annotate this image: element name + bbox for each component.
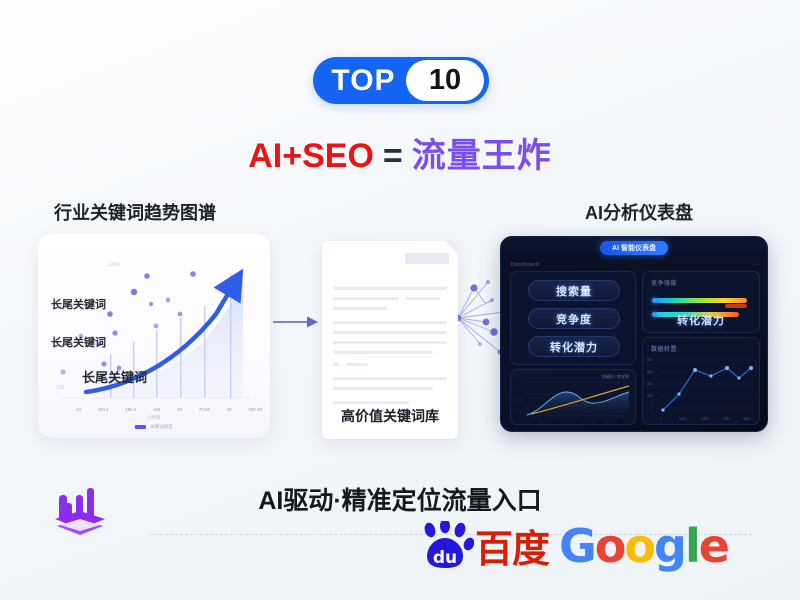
legend-swatch-icon bbox=[135, 425, 146, 429]
slide-canvas: TOP 10 AI+SEO=流量王炸 行业关键词趋势图谱 AI分析仪表盘 bbox=[0, 0, 800, 600]
metric-pill-competition[interactable]: 竞争度 bbox=[528, 308, 620, 329]
trend-legend: 关键词热度 bbox=[38, 424, 270, 430]
tick: 70.56 bbox=[199, 407, 210, 412]
svg-text:1.0: 1.0 bbox=[514, 380, 519, 384]
google-letter-o2: o bbox=[624, 519, 654, 573]
footer-tagline: AI驱动·精准定位流量入口 bbox=[0, 481, 800, 517]
svg-text:200: 200 bbox=[647, 394, 653, 398]
dashboard-subtitle: Dashboard bbox=[511, 262, 539, 268]
headline-right: 流量王炸 bbox=[412, 137, 552, 175]
trend-x-ticks: 40 110.4 155.2 184 40 70.56 40 300.48 bbox=[76, 407, 262, 412]
tick: 110.4 bbox=[98, 407, 109, 412]
baidu-paw-icon: du bbox=[418, 521, 474, 571]
dashboard-menu-icon[interactable]: ··· bbox=[754, 262, 759, 268]
gauge-marker-1 bbox=[652, 298, 657, 303]
metric-pill-conversion[interactable]: 转化潜力 bbox=[528, 336, 620, 357]
top-badge-label: TOP bbox=[313, 64, 406, 98]
keyword-library-document: 高价值关键词库 bbox=[322, 241, 458, 439]
svg-text:0.6: 0.6 bbox=[514, 392, 519, 396]
svg-text:5567: 5567 bbox=[617, 420, 624, 424]
svg-text:0: 0 bbox=[660, 417, 662, 421]
google-letter-o1: o bbox=[595, 519, 625, 573]
baidu-du-text: du bbox=[433, 548, 457, 568]
svg-text:0: 0 bbox=[516, 414, 518, 418]
tick: 40 bbox=[76, 407, 81, 412]
gauge-panel: 竞争强度 转化潜力 bbox=[642, 271, 760, 333]
metrics-panel: 搜索量 竞争度 转化潜力 bbox=[510, 271, 636, 365]
google-letter-g: g bbox=[654, 519, 685, 573]
area-chart-panel: 关键词 / 转化率 1.00.6 bbox=[510, 369, 636, 425]
svg-text:0: 0 bbox=[650, 406, 652, 410]
right-section-caption: AI分析仪表盘 bbox=[585, 199, 693, 225]
svg-text:7714: 7714 bbox=[531, 420, 538, 424]
area-chart-legend: 关键词 / 转化率 bbox=[602, 374, 629, 380]
headline-equals: = bbox=[383, 137, 403, 175]
google-letter-e: e bbox=[699, 519, 728, 573]
svg-text:1182: 1182 bbox=[553, 420, 560, 424]
main-headline: AI+SEO=流量王炸 bbox=[0, 128, 800, 177]
legend-label: 关键词热度 bbox=[150, 424, 173, 430]
svg-text:4167: 4167 bbox=[575, 420, 582, 424]
top-rank-badge: TOP 10 bbox=[313, 57, 489, 104]
trend-x-axis-title: + 时间 bbox=[38, 415, 270, 421]
baidu-logo: du 百度 bbox=[418, 521, 549, 571]
top-badge-number: 10 bbox=[406, 60, 484, 101]
svg-text:4000: 4000 bbox=[743, 417, 750, 421]
tick: 184 bbox=[153, 407, 161, 412]
google-letter-l: l bbox=[685, 519, 699, 573]
dashboard-title: AI 智能仪表盘 bbox=[600, 241, 668, 255]
document-label: 高价值关键词库 bbox=[322, 406, 458, 426]
doc-header-chip bbox=[405, 253, 449, 264]
gauge-overlay-label: 转化潜力 bbox=[643, 312, 759, 328]
baidu-wordmark: 百度 bbox=[475, 531, 549, 569]
svg-text:2000: 2000 bbox=[701, 417, 708, 421]
svg-text:1200: 1200 bbox=[108, 262, 119, 268]
flow-arrow bbox=[273, 315, 319, 334]
left-section-caption: 行业关键词趋势图谱 bbox=[54, 199, 216, 225]
tick: 40 bbox=[227, 407, 232, 412]
svg-text:150: 150 bbox=[56, 385, 65, 391]
dashboard-titlebar: AI 智能仪表盘 bbox=[501, 237, 767, 259]
svg-text:6688: 6688 bbox=[597, 420, 604, 424]
svg-text:3000: 3000 bbox=[723, 417, 730, 421]
metric-pill-search-volume[interactable]: 搜索量 bbox=[528, 280, 620, 301]
ai-dashboard: AI 智能仪表盘 Dashboard ··· 搜索量 竞争度 转化潜力 关键词 … bbox=[500, 236, 768, 432]
trend-label-3: 长尾关键词 bbox=[82, 367, 147, 386]
line-chart-title: 数据转置 bbox=[651, 344, 677, 353]
trend-label-2: 长尾关键词 bbox=[51, 334, 106, 350]
tick: 40 bbox=[177, 407, 182, 412]
trend-chart-card: 1200 600 150 长尾关键词 长尾关键词 长尾关键词 40 110.4 … bbox=[38, 234, 270, 438]
search-engine-logos: du 百度 Google bbox=[418, 521, 728, 571]
svg-text:0.3: 0.3 bbox=[514, 404, 519, 408]
headline-left: AI+SEO bbox=[248, 137, 374, 175]
google-letter-G: G bbox=[559, 519, 595, 573]
google-logo: Google bbox=[559, 523, 728, 569]
svg-text:800: 800 bbox=[647, 358, 653, 362]
tick: 300.48 bbox=[248, 407, 262, 412]
svg-text:1000: 1000 bbox=[679, 417, 686, 421]
gauge-panel-title: 竞争强度 bbox=[651, 278, 677, 287]
gauge-alert-chip bbox=[725, 304, 747, 308]
flow-arrow-icon bbox=[273, 315, 319, 329]
gauge-bar-1 bbox=[655, 298, 747, 303]
tick: 155.2 bbox=[125, 407, 136, 412]
svg-text:400: 400 bbox=[647, 382, 653, 386]
trend-label-1: 长尾关键词 bbox=[51, 296, 106, 312]
line-chart-panel: 数据转置 bbox=[642, 337, 760, 425]
svg-text:600: 600 bbox=[647, 370, 653, 374]
